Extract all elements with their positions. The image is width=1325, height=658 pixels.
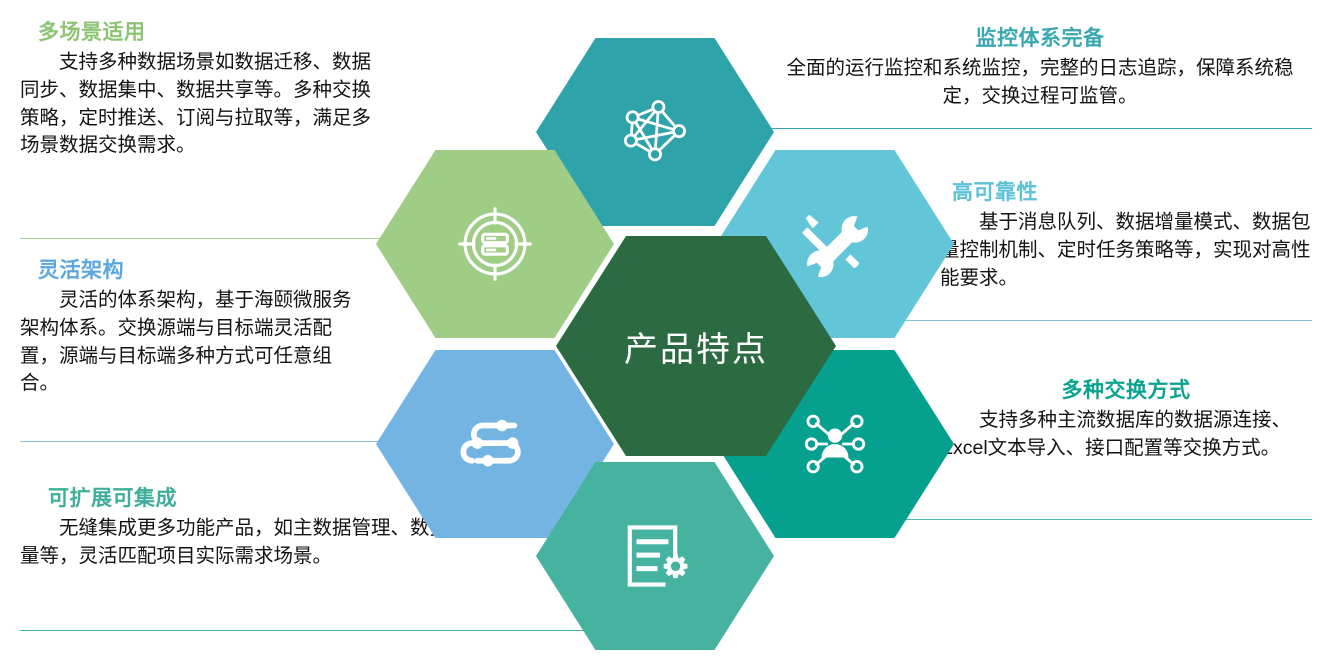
feature-title-flexible-architecture: 灵活架构 [20,258,360,283]
feature-block-monitoring-system: 监控体系完备 全面的运行监控和系统监控，完整的日志追踪，保障系统稳定，交换过程可… [770,26,1310,111]
feature-block-multi-scenario: 多场景适用 支持多种数据场景如数据迁移、数据同步、数据集中、数据共享等。多种交换… [20,20,385,160]
feature-body-flexible-architecture: 灵活的体系架构，基于海颐微服务架构体系。交换源端与目标端灵活配置，源端与目标端多… [20,287,360,398]
feature-block-flexible-architecture: 灵活架构 灵活的体系架构，基于海颐微服务架构体系。交换源端与目标端灵活配置，源端… [20,258,360,398]
feature-body-extensible-integrable: 无缝集成更多功能产品，如主数据管理、数据质量等，灵活匹配项目实际需求场景。 [20,515,485,570]
divider-exchange-methods [890,519,1312,520]
feature-title-multi-scenario: 多场景适用 [20,20,385,45]
divider-high-reliability [890,320,1312,321]
feature-body-multi-scenario: 支持多种数据场景如数据迁移、数据同步、数据集中、数据共享等。多种交换策略，定时推… [20,49,385,160]
flow-route-icon [451,400,539,488]
feature-title-monitoring-system: 监控体系完备 [770,26,1310,51]
feature-title-high-reliability: 高可靠性 [940,180,1312,205]
data-target-icon [451,200,539,288]
divider-monitoring-system [735,128,1312,129]
center-label: 产品特点 [624,322,768,371]
user-network-icon [793,402,877,486]
feature-body-monitoring-system: 全面的运行监控和系统监控，完整的日志追踪，保障系统稳定，交换过程可监管。 [770,55,1310,110]
divider-extensible-integrable [20,630,590,631]
infographic-canvas: 多场景适用 支持多种数据场景如数据迁移、数据同步、数据集中、数据共享等。多种交换… [0,0,1325,658]
feature-title-exchange-methods: 多种交换方式 [940,378,1312,403]
divider-flexible-architecture [20,441,386,442]
divider-multi-scenario [20,238,386,239]
feature-block-high-reliability: 高可靠性 基于消息队列、数据增量模式、数据包量控制机制、定时任务策略等，实现对高… [940,180,1312,292]
feature-block-exchange-methods: 多种交换方式 支持多种主流数据库的数据源连接、Excel文本导入、接口配置等交换… [940,378,1312,463]
tools-icon [792,201,878,287]
feature-body-high-reliability: 基于消息队列、数据增量模式、数据包量控制机制、定时任务策略等，实现对高性能要求。 [940,209,1312,292]
feature-body-exchange-methods: 支持多种主流数据库的数据源连接、Excel文本导入、接口配置等交换方式。 [940,407,1312,462]
document-gear-icon [613,514,697,598]
network-graph-icon [612,89,698,175]
